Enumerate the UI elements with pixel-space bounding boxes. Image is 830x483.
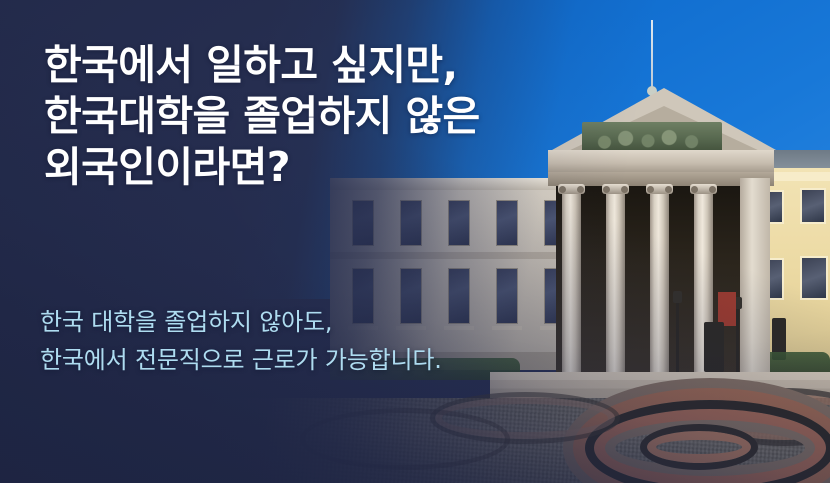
headline: 한국에서 일하고 싶지만, 한국대학을 졸업하지 않은 외국인이라면?	[44, 40, 480, 193]
copy-block: 한국에서 일하고 싶지만, 한국대학을 졸업하지 않은 외국인이라면? 한국 대…	[0, 0, 830, 483]
subheadline: 한국 대학을 졸업하지 않아도, 한국에서 전문직으로 근로가 가능합니다.	[40, 303, 442, 379]
promo-banner: 한국에서 일하고 싶지만, 한국대학을 졸업하지 않은 외국인이라면? 한국 대…	[0, 0, 830, 483]
